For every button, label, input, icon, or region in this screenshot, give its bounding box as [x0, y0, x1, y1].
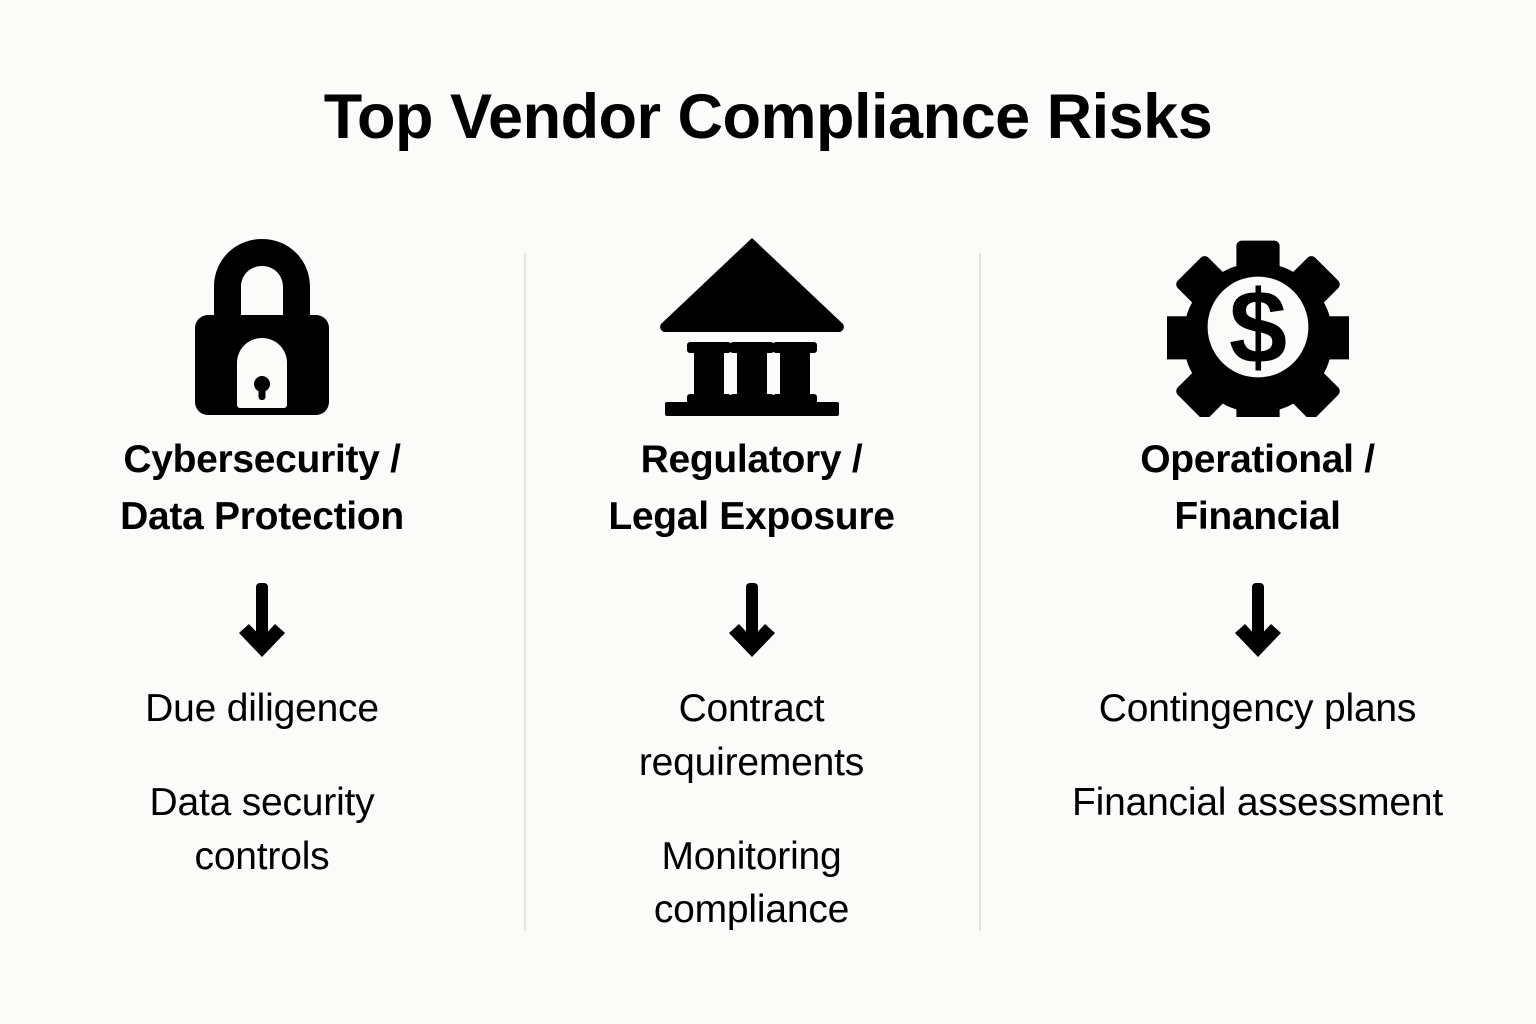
- arrow-down-icon: [1233, 582, 1283, 660]
- list-item: Contract requirements: [587, 682, 917, 790]
- column-items: Due diligence Data security controls: [0, 682, 524, 883]
- column-heading-line-2: Legal Exposure: [608, 489, 894, 546]
- column-items: Contingency plans Financial assessment: [979, 682, 1536, 830]
- list-item: Due diligence: [145, 682, 379, 736]
- list-item: Data security controls: [77, 776, 447, 884]
- arrow-down-icon: [727, 582, 777, 660]
- column-heading-line-1: Cybersecurity /: [120, 432, 404, 489]
- svg-text:$: $: [1228, 269, 1286, 386]
- list-item: Monitoring compliance: [587, 830, 917, 938]
- column-heading-line-1: Operational /: [1140, 432, 1374, 489]
- bank-building-icon: [659, 236, 845, 418]
- columns-container: Cybersecurity / Data Protection Due dili…: [0, 0, 1536, 1024]
- risk-column-regulatory: Regulatory / Legal Exposure Contract req…: [524, 0, 979, 1024]
- slide-canvas: Top Vendor Compliance Risks: [0, 0, 1536, 1024]
- column-heading-line-1: Regulatory /: [608, 432, 894, 489]
- column-heading-line-2: Data Protection: [120, 489, 404, 546]
- column-heading-line-2: Financial: [1140, 489, 1374, 546]
- list-item: Contingency plans: [1099, 682, 1416, 736]
- column-items: Contract requirements Monitoring complia…: [524, 682, 979, 937]
- column-heading: Regulatory / Legal Exposure: [608, 432, 894, 546]
- list-item: Financial assessment: [1072, 776, 1443, 830]
- column-heading: Operational / Financial: [1140, 432, 1374, 546]
- column-heading: Cybersecurity / Data Protection: [120, 432, 404, 546]
- risk-column-cybersecurity: Cybersecurity / Data Protection Due dili…: [0, 0, 524, 1024]
- arrow-down-icon: [237, 582, 287, 660]
- padlock-icon: [194, 236, 330, 418]
- risk-column-operational: $ Operational / Financial Contingency pl…: [979, 0, 1536, 1024]
- gear-dollar-icon: $: [1167, 236, 1349, 418]
